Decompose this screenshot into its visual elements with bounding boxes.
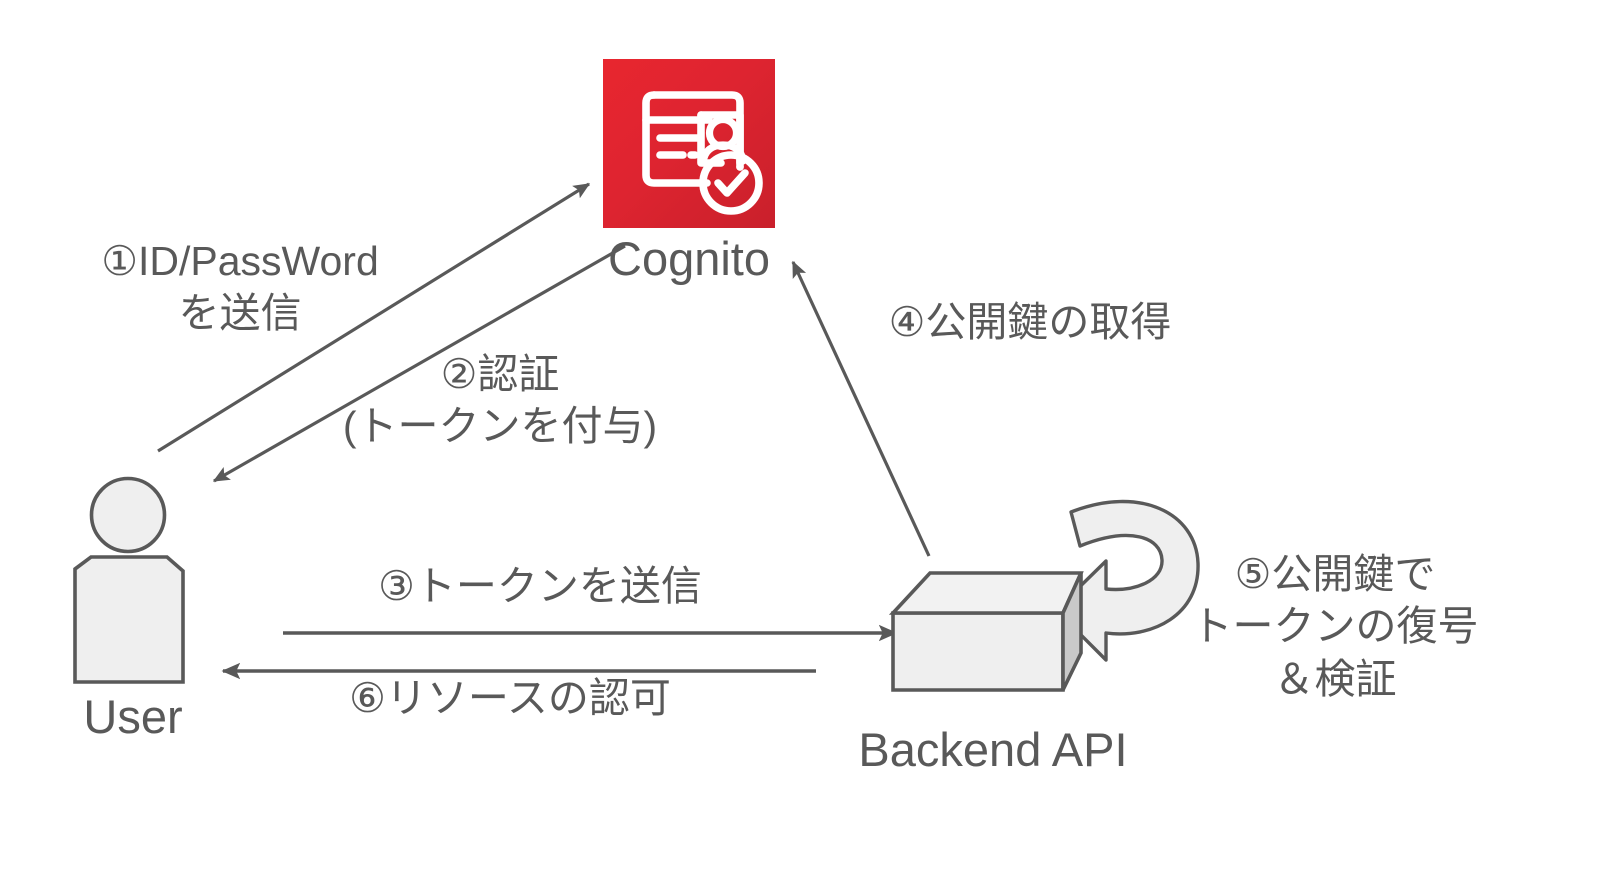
diagram-canvas: Cognito User Backend API ①ID/PassWord を送… bbox=[0, 0, 1609, 875]
node-cognito[interactable]: Cognito bbox=[603, 59, 775, 228]
flow-label-5: ⑤公開鍵で トークンの復号 ＆検証 bbox=[1165, 548, 1505, 705]
connector-layer bbox=[0, 0, 1609, 875]
flow-label-2: ②認証 (トークンを付与) bbox=[300, 348, 700, 453]
user-person-icon bbox=[62, 470, 202, 695]
cognito-identity-card-icon bbox=[603, 59, 775, 228]
flow-label-3: ③トークンを送信 bbox=[330, 560, 750, 612]
flow-label-6: ⑥リソースの認可 bbox=[300, 672, 720, 724]
flow-label-4: ④公開鍵の取得 bbox=[855, 296, 1205, 348]
check-badge-icon bbox=[703, 155, 759, 211]
cognito-icon-tile bbox=[603, 59, 775, 228]
node-user[interactable]: User bbox=[62, 470, 202, 695]
node-label-user: User bbox=[18, 692, 248, 743]
flow-label-1: ①ID/PassWord を送信 bbox=[60, 235, 420, 340]
node-label-backend-api: Backend API bbox=[823, 725, 1163, 776]
cube-box-icon bbox=[885, 520, 1095, 700]
node-backend-api[interactable]: Backend API bbox=[885, 520, 1095, 700]
node-label-cognito: Cognito bbox=[513, 234, 865, 285]
